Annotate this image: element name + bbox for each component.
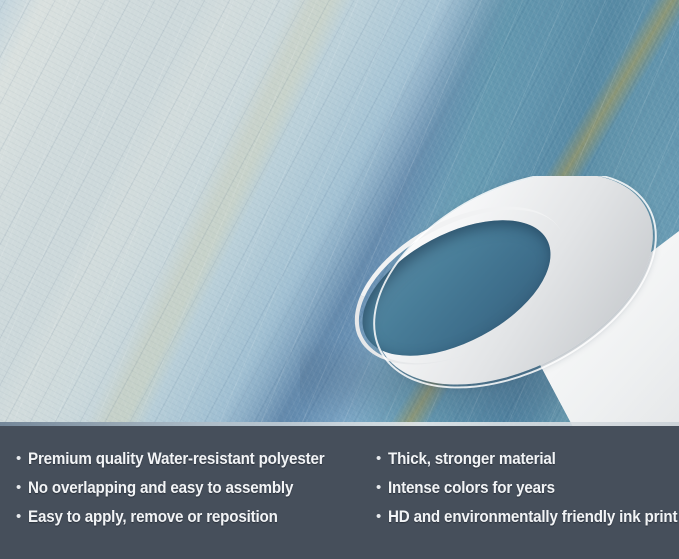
feature-banner: • Premium quality Water-resistant polyes… <box>0 426 679 559</box>
feature-column-left: • Premium quality Water-resistant polyes… <box>0 426 368 559</box>
feature-text: Thick, stronger material <box>388 448 556 470</box>
feature-columns: • Premium quality Water-resistant polyes… <box>0 426 679 559</box>
bullet-dot-icon: • <box>376 477 388 499</box>
feature-item: • Thick, stronger material <box>376 448 679 470</box>
feature-item: • Intense colors for years <box>376 477 679 499</box>
feature-column-right: • Thick, stronger material • Intense col… <box>368 426 679 559</box>
bullet-dot-icon: • <box>376 448 388 470</box>
bullet-dot-icon: • <box>16 448 28 470</box>
feature-item: • No overlapping and easy to assembly <box>16 477 368 499</box>
feature-text: Premium quality Water-resistant polyeste… <box>28 448 324 470</box>
product-photo <box>0 0 679 426</box>
feature-text: Easy to apply, remove or reposition <box>28 506 278 528</box>
feature-item: • Premium quality Water-resistant polyes… <box>16 448 368 470</box>
product-feature-image: • Premium quality Water-resistant polyes… <box>0 0 679 559</box>
bullet-dot-icon: • <box>376 506 388 528</box>
wallpaper-curled-corner <box>352 176 679 426</box>
feature-item: • HD and environmentally friendly ink pr… <box>376 506 679 528</box>
bullet-dot-icon: • <box>16 477 28 499</box>
feature-text: Intense colors for years <box>388 477 555 499</box>
feature-text: No overlapping and easy to assembly <box>28 477 293 499</box>
bullet-dot-icon: • <box>16 506 28 528</box>
feature-item: • Easy to apply, remove or reposition <box>16 506 368 528</box>
feature-text: HD and environmentally friendly ink prin… <box>388 506 677 528</box>
